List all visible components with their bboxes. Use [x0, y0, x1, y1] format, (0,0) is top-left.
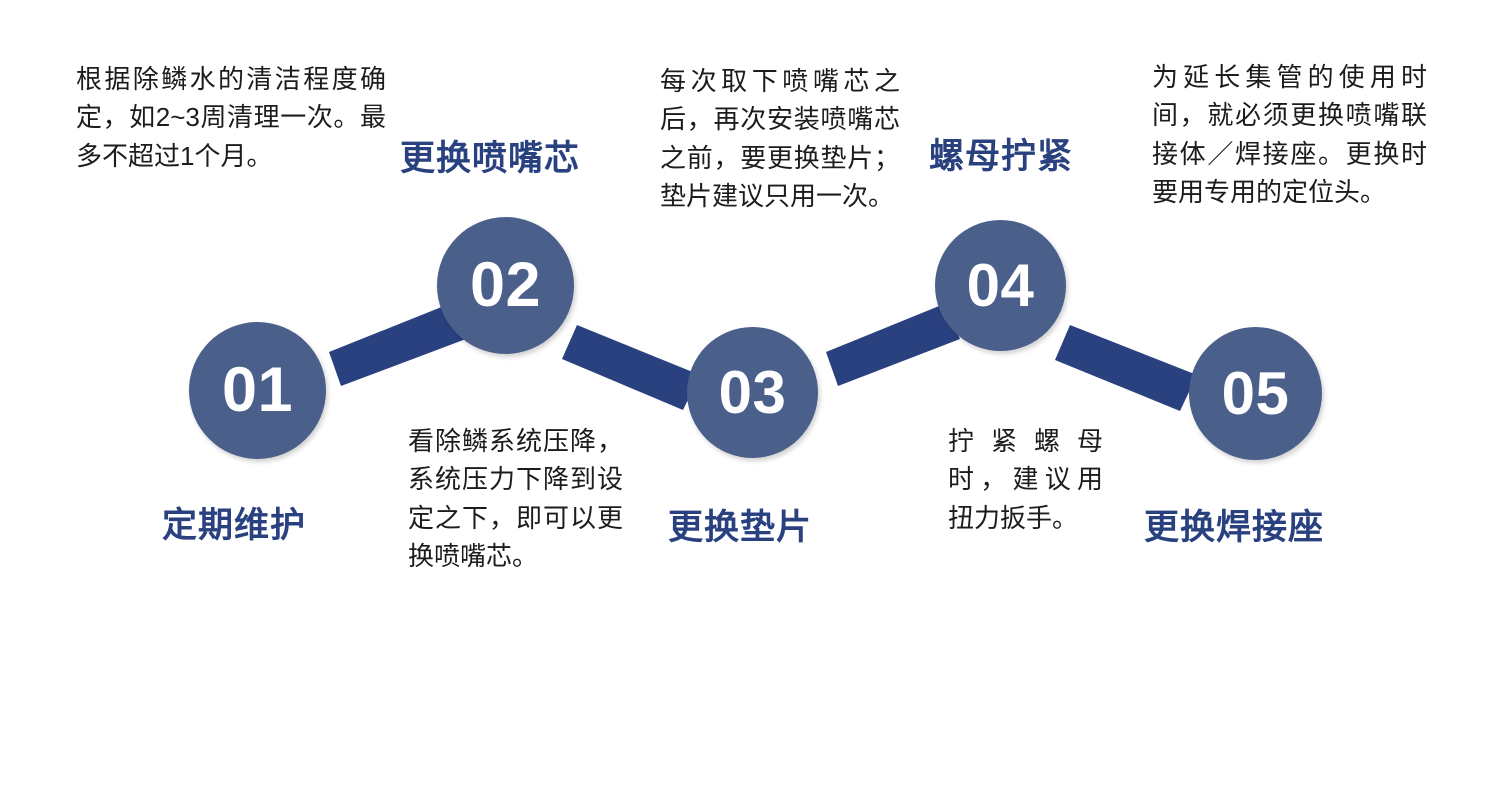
connector-04-05	[1055, 325, 1197, 411]
step-number-02: 02	[470, 254, 541, 317]
step-description-01: 根据除鳞水的清洁程度确定，如2~3周清理一次。最多不超过1个月。	[76, 60, 386, 175]
step-description-02: 看除鳞系统压降，系统压力下降到设定之下，即可以更换喷嘴芯。	[408, 422, 623, 576]
step-node-04[interactable]: 04	[935, 220, 1066, 351]
step-description-05: 为延长集管的使用时间，就必须更换喷嘴联接体／焊接座。更换时要用专用的定位头。	[1152, 58, 1427, 212]
step-number-05: 05	[1222, 364, 1290, 424]
connector-03-04	[826, 304, 960, 386]
step-title-02: 更换喷嘴芯	[400, 130, 580, 181]
step-node-05[interactable]: 05	[1189, 327, 1322, 460]
step-description-03: 每次取下喷嘴芯之后，再次安装喷嘴芯之前，要更换垫片；垫片建议只用一次。	[660, 62, 900, 216]
step-number-03: 03	[719, 363, 787, 423]
step-node-02[interactable]: 02	[437, 217, 574, 354]
step-node-03[interactable]: 03	[687, 327, 818, 458]
step-description-04: 拧紧螺母时，建议用扭力扳手。	[948, 422, 1103, 537]
connector-02-03	[562, 325, 700, 410]
step-title-05: 更换焊接座	[1144, 499, 1324, 550]
step-title-03: 更换垫片	[668, 499, 812, 550]
step-node-01[interactable]: 01	[189, 322, 326, 459]
step-number-04: 04	[967, 256, 1035, 316]
step-number-01: 01	[222, 359, 293, 422]
process-flow-infographic: 01 定期维护 根据除鳞水的清洁程度确定，如2~3周清理一次。最多不超过1个月。…	[0, 0, 1501, 807]
step-title-01: 定期维护	[162, 497, 306, 548]
step-title-04: 螺母拧紧	[929, 128, 1073, 179]
